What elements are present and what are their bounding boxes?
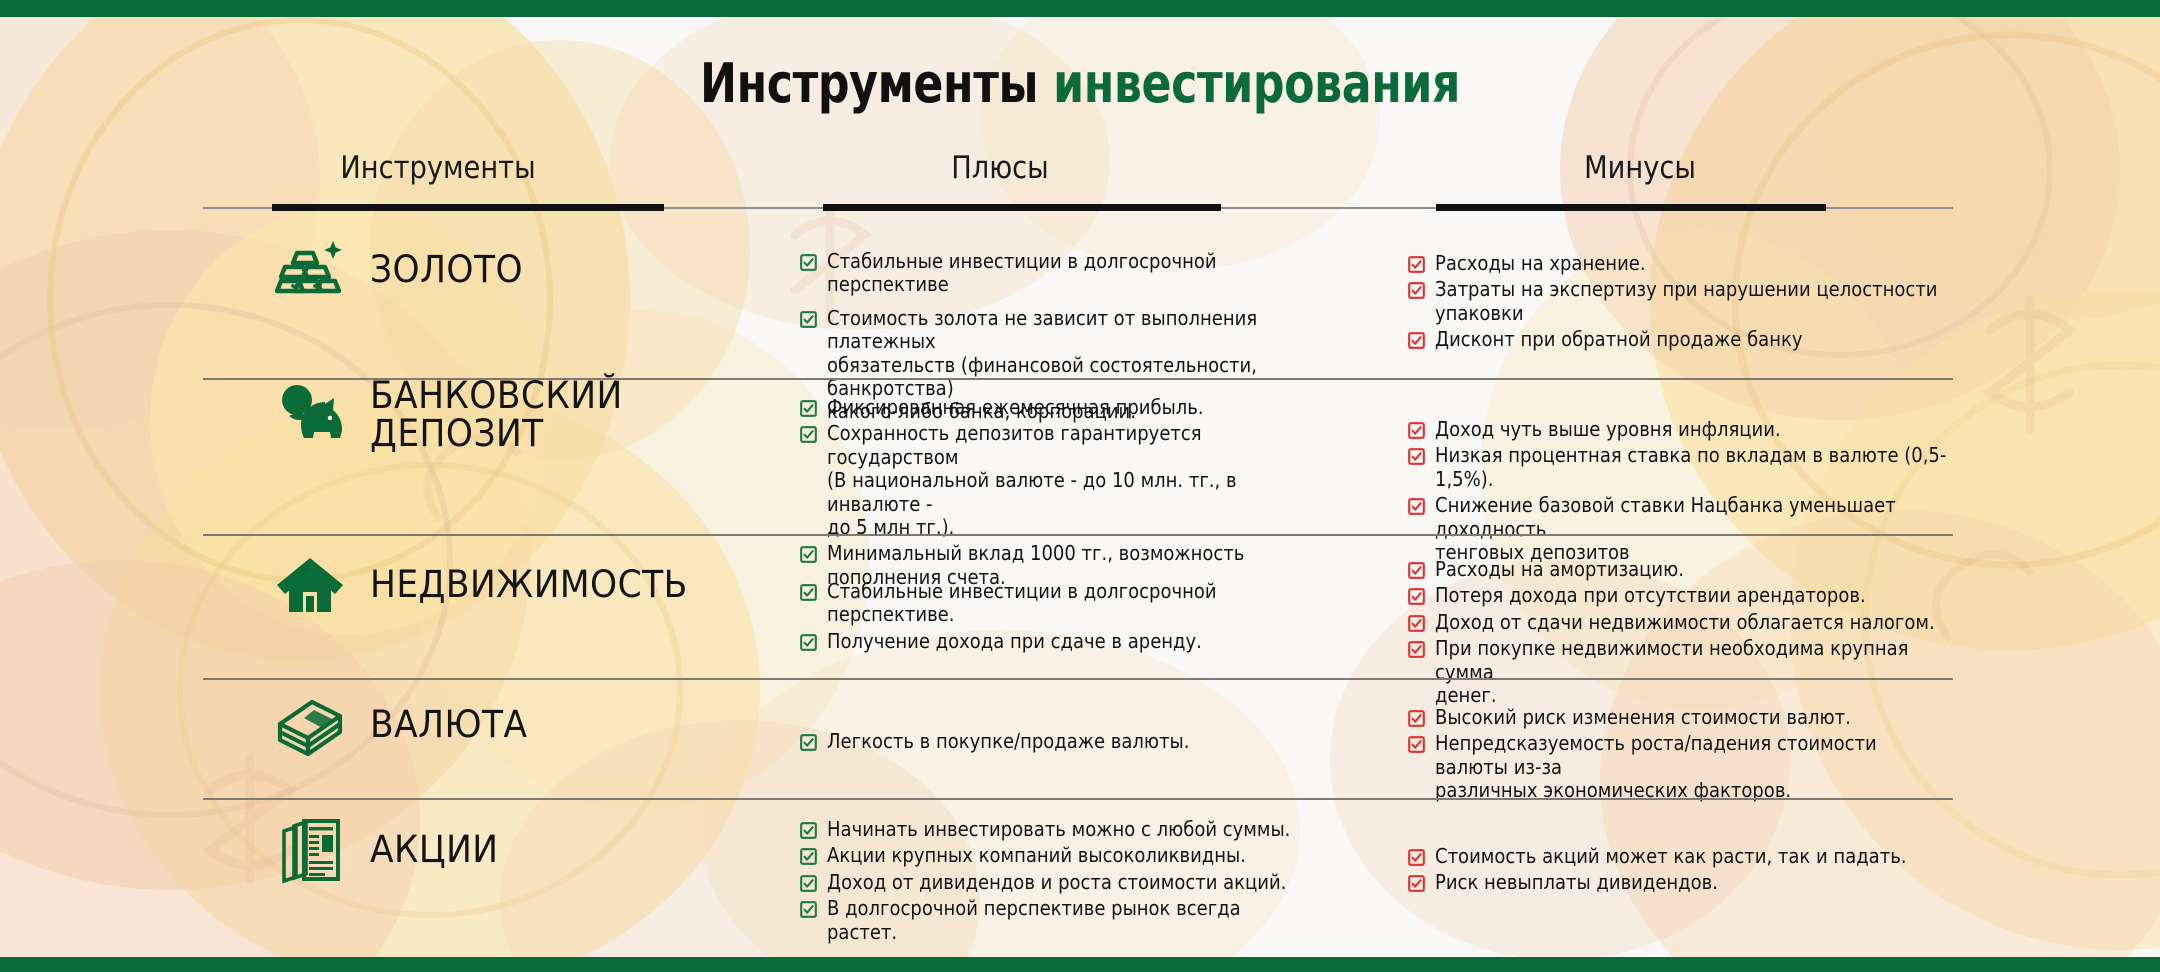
infographic-canvas: Инструменты инвестирования Инструменты П… [0, 0, 2160, 972]
check-red-icon [1408, 849, 1425, 866]
check-green-icon [800, 311, 817, 328]
plus-text: Акции крупных компаний высоколиквидны. [827, 844, 1246, 867]
plus-text: Доход от дивидендов и роста стоимости ак… [827, 871, 1286, 894]
pluses-list-2: Фиксированная ежемесячная прибыль. Сохра… [800, 396, 1360, 592]
check-green-icon [800, 426, 817, 443]
plus-text: Начинать инвестировать можно с любой сум… [827, 818, 1290, 841]
minus-text: Расходы на хранение. [1435, 252, 1646, 275]
check-red-icon [1408, 736, 1425, 753]
pluses-list-3: Стабильные инвестиции в долгосрочной пер… [800, 580, 1360, 656]
minus-item: Доход от сдачи недвижимости облагается н… [1408, 611, 2008, 634]
check-red-icon [1408, 615, 1425, 632]
check-green-icon [800, 634, 817, 651]
minus-text: Расходы на амортизацию. [1435, 558, 1684, 581]
page-title-green: инвестирования [1053, 52, 1460, 115]
check-green-icon [800, 875, 817, 892]
check-green-icon [800, 734, 817, 751]
minus-item: Непредсказуемость роста/падения стоимост… [1408, 732, 2008, 802]
bottom-green-bar [0, 957, 2160, 972]
minus-text: Снижение базовой ставки Нацбанка уменьша… [1435, 494, 1951, 564]
row-divider [203, 534, 1953, 536]
page-title-black: Инструменты [700, 52, 1038, 115]
plus-item: Начинать инвестировать можно с любой сум… [800, 818, 1360, 841]
instrument-5[interactable]: АКЦИИ [272, 812, 508, 888]
row-divider [203, 798, 1953, 800]
minus-text: Потеря дохода при отсутствии арендаторов… [1435, 584, 1866, 607]
instrument-3[interactable]: НЕДВИЖИМОСТЬ [272, 547, 712, 623]
plus-item: Акции крупных компаний высоколиквидны. [800, 844, 1360, 867]
instrument-label: ВАЛЮТА [370, 706, 528, 744]
minus-text: Непредсказуемость роста/падения стоимост… [1435, 732, 1951, 802]
check-green-icon [800, 546, 817, 563]
check-green-icon [800, 901, 817, 918]
header-pluses: Плюсы [727, 150, 1273, 186]
gold-bars-icon [272, 232, 348, 308]
check-red-icon [1408, 710, 1425, 727]
minus-item: Затраты на экспертизу при нарушении цело… [1408, 278, 2008, 325]
check-red-icon [1408, 282, 1425, 299]
plus-item: Стабильные инвестиции в долгосрочной пер… [800, 580, 1360, 627]
house-icon [272, 547, 348, 623]
check-red-icon [1408, 422, 1425, 439]
minus-item: Доход чуть выше уровня инфляции. [1408, 418, 2008, 441]
plus-item: В долгосрочной перспективе рынок всегда … [800, 897, 1360, 944]
instrument-label: ЗОЛОТО [370, 251, 523, 289]
minus-text: Доход от сдачи недвижимости облагается н… [1435, 611, 1935, 634]
minuses-list-2: Доход чуть выше уровня инфляции. Низкая … [1408, 418, 2008, 567]
minus-text: Доход чуть выше уровня инфляции. [1435, 418, 1781, 441]
header-minuses: Минусы [1367, 150, 1913, 186]
plus-item: Фиксированная ежемесячная прибыль. [800, 396, 1360, 419]
minus-item: Потеря дохода при отсутствии арендаторов… [1408, 584, 2008, 607]
minuses-list-1: Расходы на хранение. Затраты на эксперти… [1408, 252, 2008, 355]
plus-text: В долгосрочной перспективе рынок всегда … [827, 897, 1307, 944]
minus-text: Дисконт при обратной продаже банку [1435, 328, 1803, 351]
page-title: Инструменты инвестирования [194, 52, 1965, 115]
minus-text: При покупке недвижимости необходима круп… [1435, 637, 1951, 707]
minus-item: Стоимость акций может как расти, так и п… [1408, 845, 2008, 868]
header-instruments: Инструменты [231, 150, 645, 186]
check-red-icon [1408, 332, 1425, 349]
check-green-icon [800, 254, 817, 271]
check-red-icon [1408, 641, 1425, 658]
column-headers: Инструменты Плюсы Минусы [0, 150, 2160, 210]
plus-item: Получение дохода при сдаче в аренду. [800, 630, 1360, 653]
check-green-icon [800, 848, 817, 865]
plus-text: Получение дохода при сдаче в аренду. [827, 630, 1202, 653]
plus-item: Стабильные инвестиции в долгосрочной пер… [800, 250, 1360, 297]
instrument-4[interactable]: ВАЛЮТА [272, 687, 539, 763]
header-underline-instruments [272, 204, 664, 211]
plus-text: Фиксированная ежемесячная прибыль. [827, 396, 1204, 419]
header-underline-minuses [1436, 204, 1826, 211]
minus-text: Низкая процентная ставка по вкладам в ва… [1435, 444, 1951, 491]
header-underline-pluses [823, 204, 1221, 211]
instrument-label: БАНКОВСКИЙ ДЕПОЗИТ [370, 377, 623, 452]
minus-text: Высокий риск изменения стоимости валют. [1435, 706, 1851, 729]
check-green-icon [800, 584, 817, 601]
plus-item: Сохранность депозитов гарантируется госу… [800, 422, 1360, 539]
minus-text: Затраты на экспертизу при нарушении цело… [1435, 278, 1938, 325]
check-red-icon [1408, 588, 1425, 605]
instrument-label: АКЦИИ [370, 831, 498, 869]
minuses-list-4: Высокий риск изменения стоимости валют. … [1408, 706, 2008, 806]
plus-text: Стабильные инвестиции в долгосрочной пер… [827, 580, 1307, 627]
minus-text: Риск невыплаты дивидендов. [1435, 871, 1718, 894]
plus-text: Сохранность депозитов гарантируется госу… [827, 422, 1307, 539]
minus-item: Высокий риск изменения стоимости валют. [1408, 706, 2008, 729]
money-stack-icon [272, 687, 348, 763]
newspaper-icon [272, 812, 348, 888]
plus-item: Легкость в покупке/продаже валюты. [800, 730, 1360, 753]
minus-item: Низкая процентная ставка по вкладам в ва… [1408, 444, 2008, 491]
minus-text: Стоимость акций может как расти, так и п… [1435, 845, 1907, 868]
check-red-icon [1408, 448, 1425, 465]
minus-item: Снижение базовой ставки Нацбанка уменьша… [1408, 494, 2008, 564]
minus-item: Риск невыплаты дивидендов. [1408, 871, 2008, 894]
check-green-icon [800, 400, 817, 417]
minus-item: При покупке недвижимости необходима круп… [1408, 637, 2008, 707]
check-red-icon [1408, 498, 1425, 515]
instrument-2[interactable]: БАНКОВСКИЙ ДЕПОЗИТ [272, 377, 642, 453]
check-red-icon [1408, 256, 1425, 273]
piggy-bank-icon [272, 377, 348, 453]
instrument-label: НЕДВИЖИМОСТЬ [370, 566, 688, 604]
plus-text: Легкость в покупке/продаже валюты. [827, 730, 1189, 753]
minuses-list-5: Стоимость акций может как расти, так и п… [1408, 845, 2008, 898]
pluses-list-5: Начинать инвестировать можно с любой сум… [800, 818, 1360, 947]
row-divider [203, 678, 1953, 680]
check-red-icon [1408, 562, 1425, 579]
plus-item: Доход от дивидендов и роста стоимости ак… [800, 871, 1360, 894]
top-green-bar [0, 0, 2160, 17]
minuses-list-3: Расходы на амортизацию. Потеря дохода пр… [1408, 558, 2008, 710]
plus-text: Стабильные инвестиции в долгосрочной пер… [827, 250, 1307, 297]
minus-item: Расходы на хранение. [1408, 252, 2008, 275]
minus-item: Дисконт при обратной продаже банку [1408, 328, 2008, 351]
check-red-icon [1408, 875, 1425, 892]
minus-item: Расходы на амортизацию. [1408, 558, 2008, 581]
row-divider [203, 378, 1953, 380]
instrument-1[interactable]: ЗОЛОТО [272, 232, 535, 308]
pluses-list-4: Легкость в покупке/продаже валюты. [800, 730, 1360, 756]
check-green-icon [800, 822, 817, 839]
